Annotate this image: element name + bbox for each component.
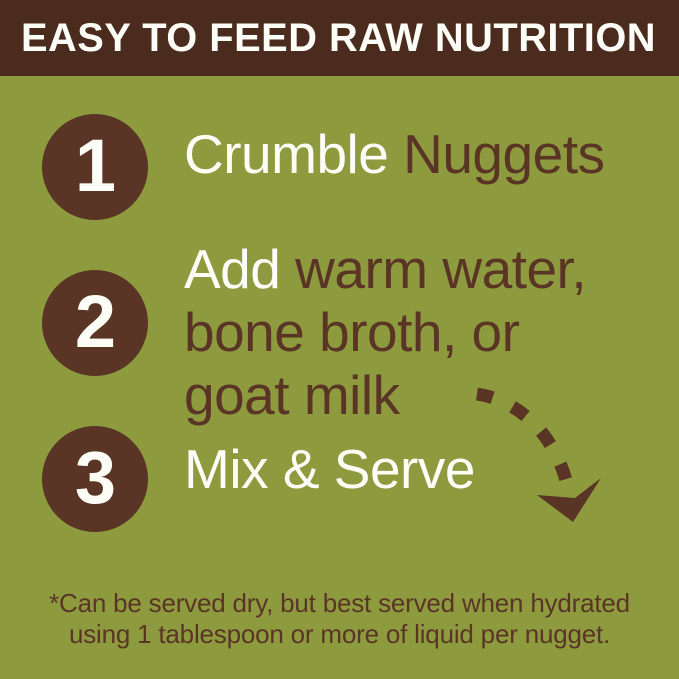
step-text-3: Mix & Serve [184,438,665,501]
step-text-2-line-1: Add warm water, [184,238,665,301]
footnote: *Can be served dry, but best served when… [14,588,665,650]
step-text-1: Crumble Nuggets [184,123,665,186]
footnote-line-2: using 1 tablespoon or more of liquid per… [14,619,665,650]
step-highlight-2: Add [184,238,280,300]
step-item-1: 1 Crumble Nuggets [0,90,679,216]
step-highlight-1: Crumble [184,123,388,185]
step-text-2: Add warm water, bone broth, or goat milk [184,238,665,427]
header-band: EASY TO FEED RAW NUTRITION [0,0,679,76]
footnote-line-1: *Can be served dry, but best served when… [14,588,665,619]
poster-root: EASY TO FEED RAW NUTRITION 1 Crumble Nug… [0,0,679,679]
step-text-2-line-2: bone broth, or [184,301,665,364]
steps-list: 1 Crumble Nuggets 2 Add warm water, bone… [0,76,679,556]
step-item-3: 3 Mix & Serve [0,414,679,534]
step-rest-2: warm water, [280,238,586,300]
step-number-badge-1: 1 [42,114,148,220]
step-number-badge-2: 2 [42,270,148,376]
step-item-2: 2 Add warm water, bone broth, or goat mi… [0,226,679,426]
page-title: EASY TO FEED RAW NUTRITION [21,16,658,60]
step-rest-1: Nuggets [388,123,604,185]
step-number-badge-3: 3 [42,426,148,532]
step-highlight-3: Mix & Serve [184,438,475,500]
